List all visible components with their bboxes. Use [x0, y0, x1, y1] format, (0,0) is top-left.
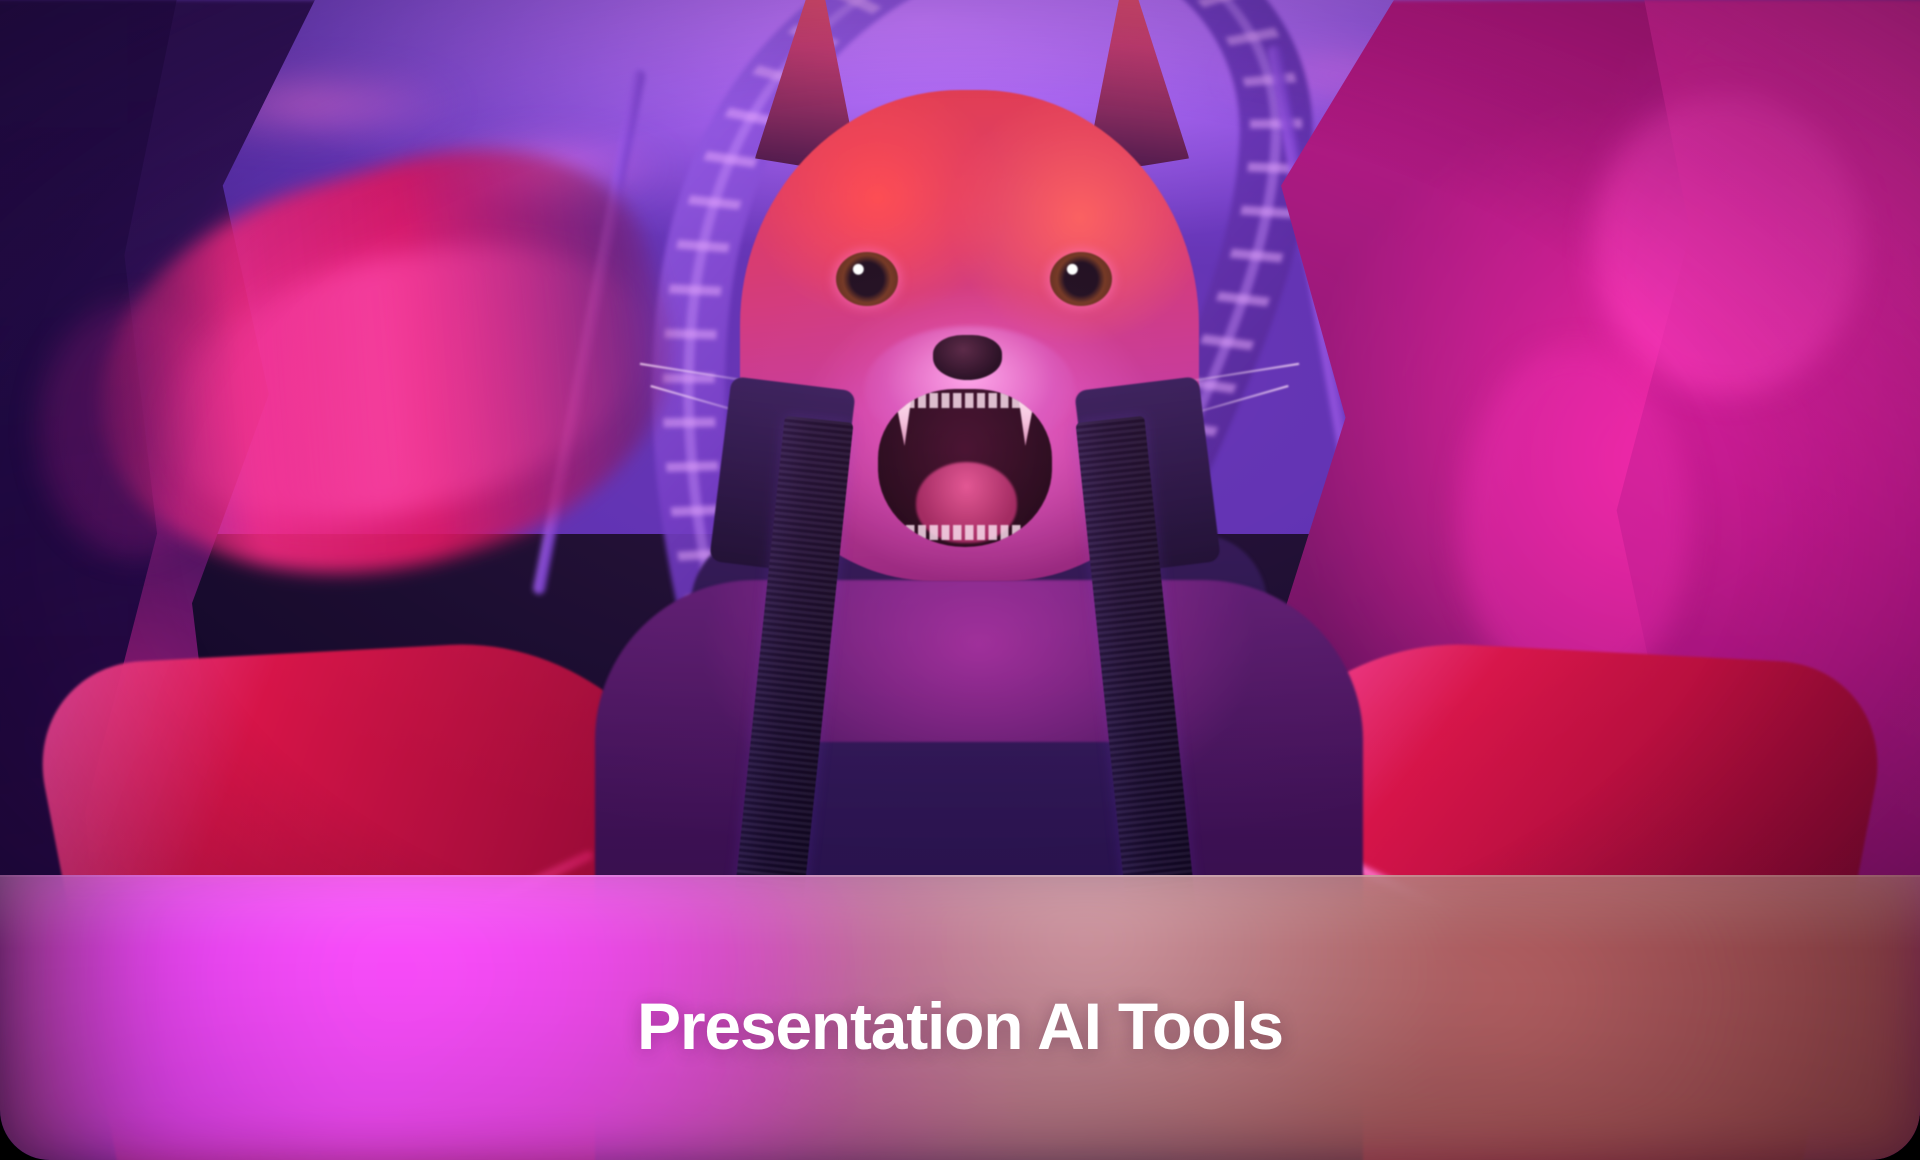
fox-fang-left — [893, 389, 912, 446]
rock-glow-right-1 — [1594, 93, 1863, 395]
caption-bar: Presentation AI Tools — [0, 875, 1920, 1160]
page-title: Presentation AI Tools — [637, 988, 1283, 1064]
fox-eye-right — [1050, 252, 1112, 306]
slide-card: Presentation AI Tools — [0, 0, 1920, 1160]
rock-glow-right-2 — [1459, 348, 1689, 696]
fox-open-mouth — [878, 389, 1053, 546]
fox-fang-right — [1017, 389, 1036, 446]
fox-lower-teeth — [906, 525, 1025, 541]
fox-upper-teeth — [906, 393, 1025, 409]
fox-eye-left — [836, 252, 898, 306]
fox-nose — [933, 335, 1002, 379]
